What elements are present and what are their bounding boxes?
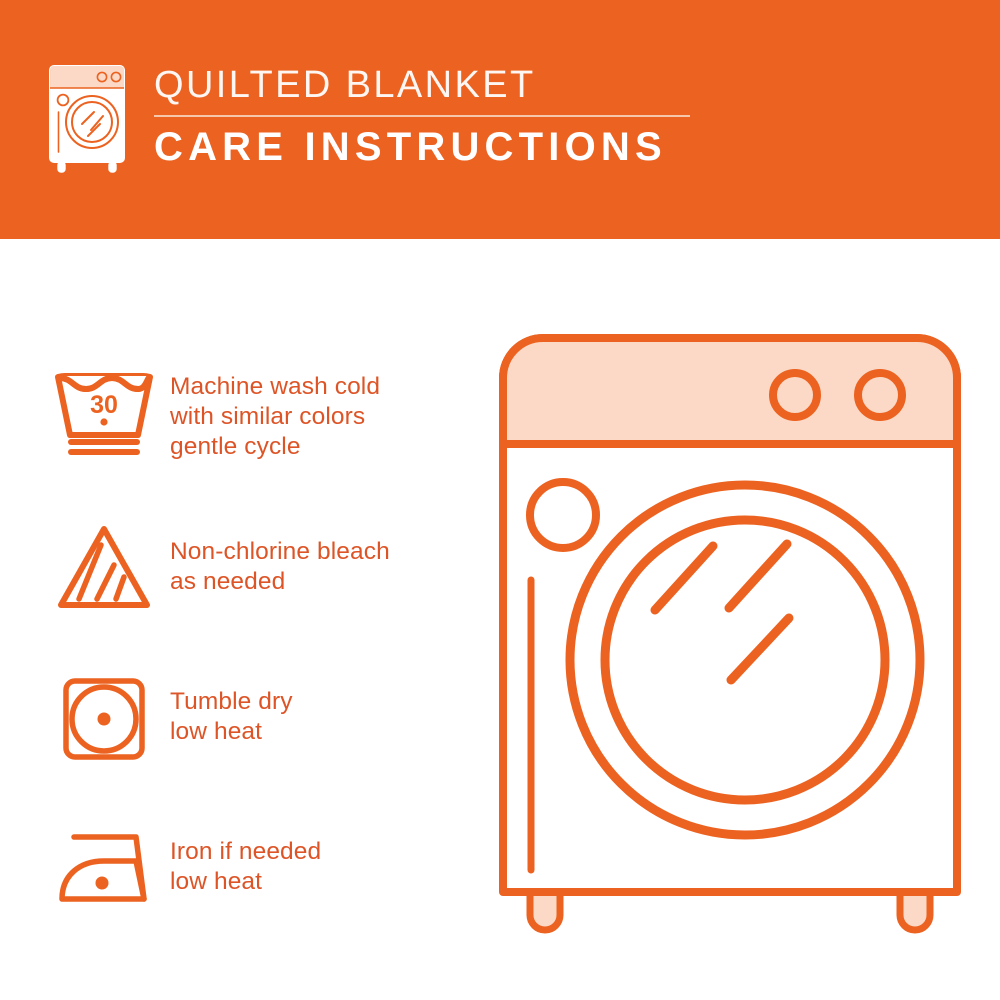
care-label-wash: Machine wash cold with similar colors ge… <box>170 372 380 462</box>
wash-tub-30-gentle-icon: 30 <box>52 369 156 465</box>
header-content: QUILTED BLANKET CARE INSTRUCTIONS <box>44 60 690 175</box>
care-symbol-bleach <box>52 519 170 615</box>
care-label-tumble-dry-line-1: Tumble dry <box>170 687 293 717</box>
care-row-iron: Iron if needed low heat <box>52 792 472 942</box>
bleach-triangle-non-chlorine-icon <box>52 519 156 615</box>
header-title-block: QUILTED BLANKET CARE INSTRUCTIONS <box>154 60 690 171</box>
care-row-tumble-dry: Tumble dry low heat <box>52 642 472 792</box>
header-divider <box>154 115 690 117</box>
front-load-washing-machine-illustration <box>495 330 965 940</box>
care-row-bleach: Non-chlorine bleach as needed <box>52 492 472 642</box>
care-label-wash-line-2: with similar colors <box>170 402 380 432</box>
care-label-bleach: Non-chlorine bleach as needed <box>170 537 390 597</box>
care-label-wash-line-3: gentle cycle <box>170 432 380 462</box>
wash-temperature-value: 30 <box>90 391 118 419</box>
care-label-bleach-line-2: as needed <box>170 567 390 597</box>
washing-machine-icon <box>44 60 136 175</box>
care-label-tumble-dry-line-2: low heat <box>170 717 293 747</box>
care-instructions-list: 30 Machine wash cold with similar colors… <box>52 342 472 942</box>
header-banner: QUILTED BLANKET CARE INSTRUCTIONS <box>0 0 1000 239</box>
washer-control-panel <box>503 338 957 444</box>
care-label-iron: Iron if needed low heat <box>170 837 321 897</box>
care-label-iron-line-2: low heat <box>170 867 321 897</box>
care-symbol-wash: 30 <box>52 369 170 465</box>
page-title-product: QUILTED BLANKET <box>154 62 690 108</box>
care-label-wash-line-1: Machine wash cold <box>170 372 380 402</box>
iron-low-heat-icon <box>52 819 156 915</box>
care-symbol-tumble-dry <box>52 669 170 765</box>
care-symbol-iron <box>52 819 170 915</box>
care-row-wash: 30 Machine wash cold with similar colors… <box>52 342 472 492</box>
care-label-iron-line-1: Iron if needed <box>170 837 321 867</box>
care-label-tumble-dry: Tumble dry low heat <box>170 687 293 747</box>
tumble-dry-low-heat-icon <box>52 669 156 765</box>
page-title-care-instructions: CARE INSTRUCTIONS <box>154 123 690 171</box>
care-label-bleach-line-1: Non-chlorine bleach <box>170 537 390 567</box>
